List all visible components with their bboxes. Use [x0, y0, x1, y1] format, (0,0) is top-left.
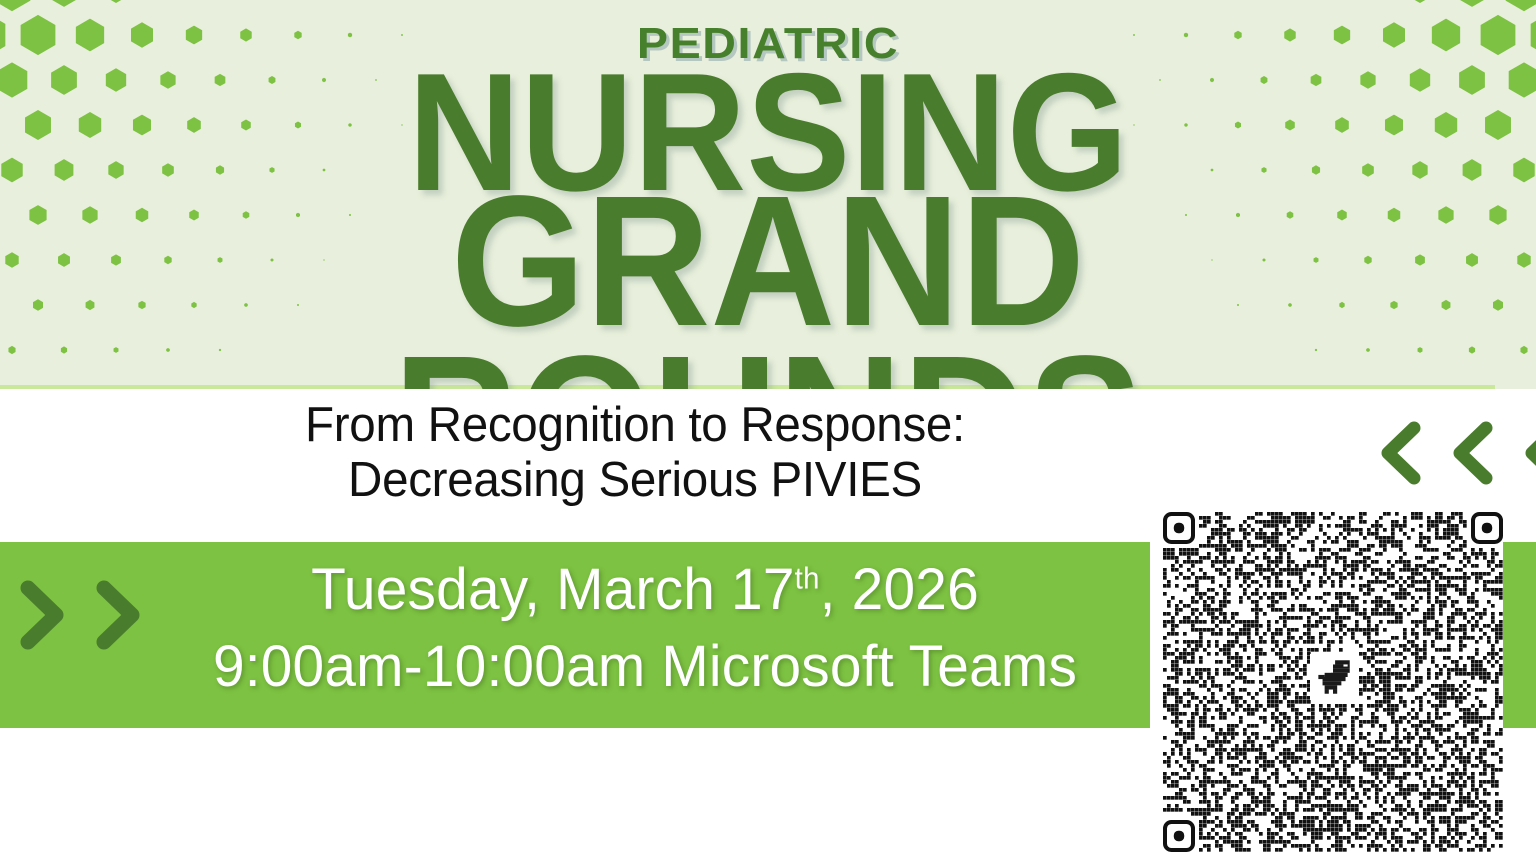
date-ordinal: th — [795, 563, 820, 596]
headline-line-2: GRAND ROUNDS — [54, 182, 1482, 389]
time-platform-line: 9:00am-10:00am Microsoft Teams — [150, 629, 1140, 706]
chevron-left-icon — [1512, 418, 1536, 488]
title-stack: PEDIATRIC NURSING GRAND ROUNDS — [0, 0, 1536, 389]
date-line: Tuesday, March 17th, 2026 — [150, 552, 1140, 629]
subtitle: From Recognition to Response: Decreasing… — [19, 398, 1251, 509]
date-suffix: , 2026 — [820, 557, 979, 622]
date-time-text: Tuesday, March 17th, 2026 9:00am-10:00am… — [150, 552, 1140, 705]
chevron-right-icon — [84, 580, 150, 650]
chevron-right-icon — [8, 580, 74, 650]
chevron-group-left — [8, 580, 150, 650]
subtitle-line-2: Decreasing Serious PIVIES — [19, 453, 1251, 508]
date-prefix: Tuesday, March 17 — [311, 557, 795, 622]
dinosaur-icon — [1310, 654, 1356, 700]
chevron-left-icon — [1440, 418, 1506, 488]
qr-code-icon[interactable] — [1163, 512, 1503, 864]
chevron-left-icon — [1368, 418, 1434, 488]
flyer-canvas: PEDIATRIC NURSING GRAND ROUNDS From Reco… — [0, 0, 1536, 864]
subtitle-line-1: From Recognition to Response: — [19, 398, 1251, 453]
chevron-group-right — [1368, 418, 1536, 488]
header-banner: PEDIATRIC NURSING GRAND ROUNDS — [0, 0, 1536, 389]
